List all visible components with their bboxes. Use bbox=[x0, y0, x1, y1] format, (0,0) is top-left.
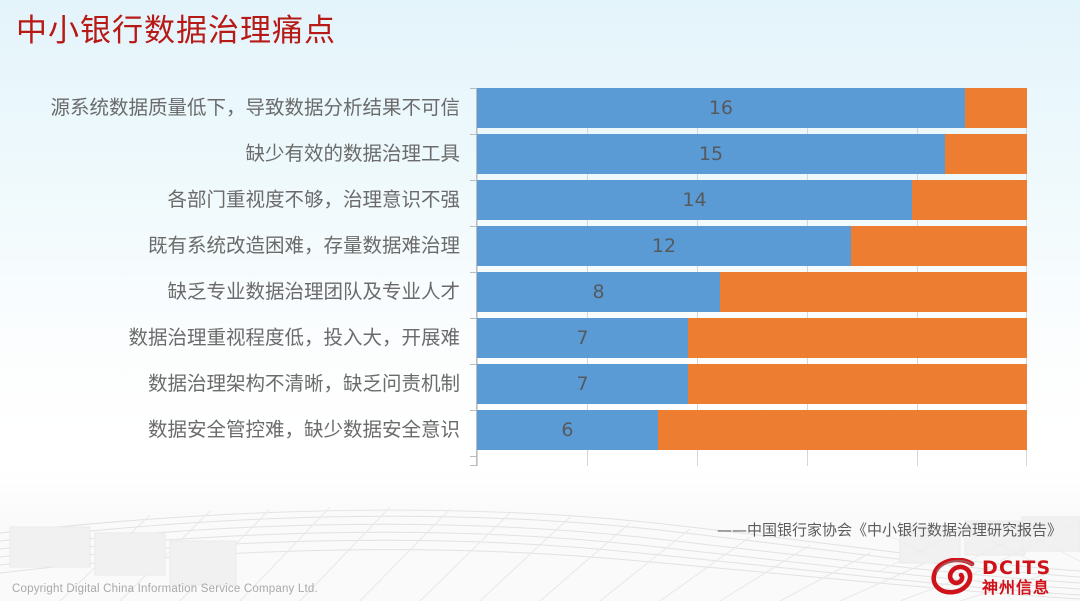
bar-segment-primary: 16 bbox=[477, 88, 965, 128]
category-label: 各部门重视度不够，治理意识不强 bbox=[167, 180, 460, 220]
bar-row: 14 bbox=[477, 180, 1027, 220]
bar-segment-primary: 15 bbox=[477, 134, 945, 174]
y-axis-tick bbox=[470, 456, 477, 457]
copyright-text: Copyright Digital China Information Serv… bbox=[12, 583, 318, 595]
dcits-swirl-icon bbox=[930, 558, 980, 598]
bar-row: 16 bbox=[477, 88, 1027, 128]
logo-chinese-text: 神州信息 bbox=[982, 578, 1072, 597]
y-axis-tick bbox=[470, 88, 477, 89]
bar-row: 15 bbox=[477, 134, 1027, 174]
bar-value-label: 7 bbox=[477, 318, 688, 358]
bar-value-label: 15 bbox=[477, 134, 945, 174]
bar-value-label: 12 bbox=[477, 226, 851, 266]
y-axis-tick bbox=[470, 410, 477, 411]
bar-row: 7 bbox=[477, 364, 1027, 404]
y-axis-tick bbox=[470, 226, 477, 227]
bar-segment-secondary bbox=[965, 88, 1027, 128]
bar-value-label: 8 bbox=[477, 272, 720, 312]
bar-segment-primary: 7 bbox=[477, 364, 688, 404]
y-axis-tick bbox=[470, 180, 477, 181]
bar-row: 8 bbox=[477, 272, 1027, 312]
bar-row: 6 bbox=[477, 410, 1027, 450]
bar-segment-primary: 6 bbox=[477, 410, 658, 450]
bar-segment-secondary bbox=[688, 364, 1027, 404]
category-label: 源系统数据质量低下，导致数据分析结果不可信 bbox=[50, 88, 460, 128]
bar-segment-secondary bbox=[912, 180, 1027, 220]
slide-canvas: 中小银行数据治理痛点 源系统数据质量低下，导致数据分析结果不可信 缺少有效的数据… bbox=[0, 0, 1080, 601]
category-label: 既有系统改造困难，存量数据难治理 bbox=[148, 226, 460, 266]
bar-value-label: 6 bbox=[477, 410, 658, 450]
bar-value-label: 16 bbox=[477, 88, 965, 128]
y-axis-tick bbox=[470, 272, 477, 273]
bar-segment-primary: 7 bbox=[477, 318, 688, 358]
bar-segment-secondary bbox=[851, 226, 1027, 266]
bar-row: 7 bbox=[477, 318, 1027, 358]
bar-value-label: 14 bbox=[477, 180, 912, 220]
bar-segment-secondary bbox=[720, 272, 1027, 312]
category-label: 数据治理架构不清晰，缺乏问责机制 bbox=[148, 364, 460, 404]
bar-segment-primary: 8 bbox=[477, 272, 720, 312]
stacked-bar-chart: 源系统数据质量低下，导致数据分析结果不可信 缺少有效的数据治理工具 各部门重视度… bbox=[0, 88, 1052, 466]
category-label: 缺乏专业数据治理团队及专业人才 bbox=[167, 272, 460, 312]
category-axis: 源系统数据质量低下，导致数据分析结果不可信 缺少有效的数据治理工具 各部门重视度… bbox=[0, 88, 468, 466]
bar-segment-primary: 12 bbox=[477, 226, 851, 266]
y-axis-tick bbox=[470, 318, 477, 319]
bar-segment-primary: 14 bbox=[477, 180, 912, 220]
y-axis-tick bbox=[470, 465, 477, 466]
source-citation: ——中国银行家协会《中小银行数据治理研究报告》 bbox=[717, 519, 1062, 540]
category-label: 数据安全管控难，缺少数据安全意识 bbox=[148, 410, 460, 450]
bar-row: 12 bbox=[477, 226, 1027, 266]
bar-segment-secondary bbox=[688, 318, 1027, 358]
category-label: 缺少有效的数据治理工具 bbox=[245, 134, 460, 174]
y-axis-tick bbox=[470, 364, 477, 365]
bar-segment-secondary bbox=[658, 410, 1027, 450]
bar-segment-secondary bbox=[945, 134, 1027, 174]
plot-area: 161514128776 bbox=[477, 88, 1027, 466]
page-title: 中小银行数据治理痛点 bbox=[16, 5, 336, 50]
category-label: 数据治理重视程度低，投入大，开展难 bbox=[128, 318, 460, 358]
logo-wordmark: DCITS 神州信息 bbox=[982, 558, 1072, 597]
y-axis-tick bbox=[470, 134, 477, 135]
dcits-logo: DCITS 神州信息 bbox=[930, 556, 1072, 598]
bar-value-label: 7 bbox=[477, 364, 688, 404]
logo-latin-text: DCITS bbox=[982, 558, 1072, 578]
